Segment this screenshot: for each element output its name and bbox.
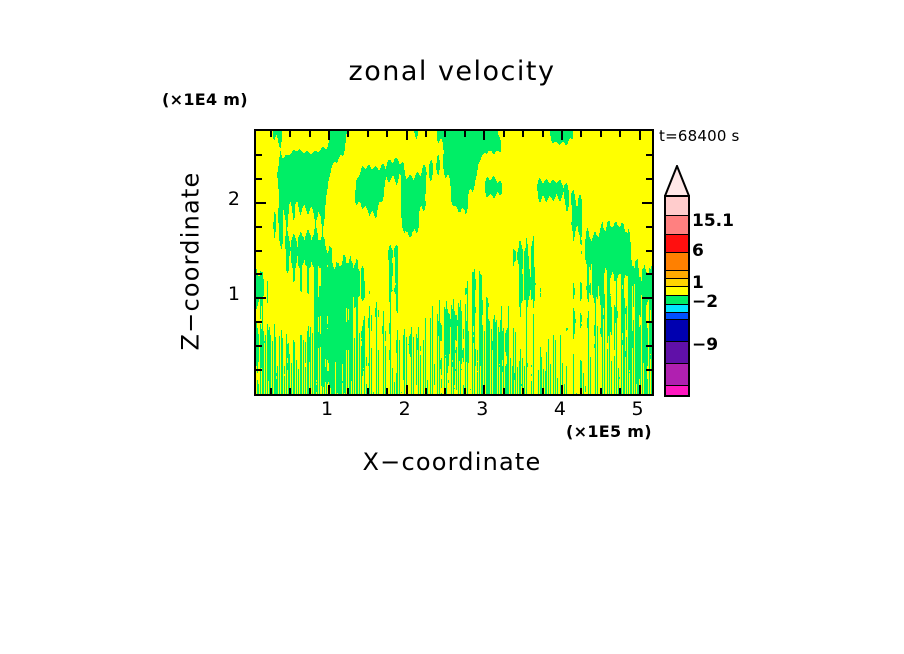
x-tick	[425, 388, 427, 394]
x-tick	[367, 388, 369, 394]
x-tick-top	[309, 131, 311, 137]
y-tick	[256, 345, 262, 347]
y-tick-right	[646, 345, 652, 347]
x-tick-top	[600, 131, 602, 137]
y-tick-right	[642, 297, 652, 299]
y-tick-label: 2	[214, 188, 240, 210]
x-tick-top	[270, 131, 272, 137]
colorbar-band	[666, 296, 688, 305]
x-tick-top	[464, 131, 466, 137]
x-tick	[522, 388, 524, 394]
timestamp-annotation: t=68400 s	[659, 127, 740, 145]
x-tick-label: 2	[385, 398, 425, 420]
colorbar-band	[666, 305, 688, 313]
y-tick	[256, 369, 262, 371]
x-tick	[406, 385, 408, 394]
colorbar-band	[666, 342, 688, 364]
colorbar	[664, 195, 690, 397]
x-tick	[542, 388, 544, 394]
colorbar-band	[666, 320, 688, 342]
colorbar-band	[666, 313, 688, 320]
y-tick-right	[646, 226, 652, 228]
y-tick	[256, 321, 262, 323]
y-axis-title: Z−coordinate	[176, 176, 204, 346]
x-tick-top	[386, 131, 388, 137]
x-tick-label: 5	[618, 398, 658, 420]
x-tick	[503, 388, 505, 394]
velocity-field-heatmap	[256, 131, 652, 394]
colorbar-band	[666, 235, 688, 253]
x-tick-top	[406, 131, 408, 140]
y-tick	[256, 154, 262, 156]
colorbar-band	[666, 279, 688, 287]
x-tick	[639, 385, 641, 394]
y-tick-right	[642, 202, 652, 204]
colorbar-band	[666, 386, 688, 397]
y-tick	[256, 202, 266, 204]
x-tick	[270, 388, 272, 394]
x-tick	[386, 388, 388, 394]
colorbar-label: 15.1	[692, 211, 734, 231]
x-tick-label: 3	[462, 398, 502, 420]
x-tick	[600, 388, 602, 394]
x-tick-top	[425, 131, 427, 137]
y-tick-right	[646, 273, 652, 275]
x-axis-units-label: (×1E5 m)	[566, 422, 652, 441]
x-tick-top	[483, 131, 485, 140]
x-axis-title: X−coordinate	[254, 448, 650, 476]
x-tick-label: 4	[540, 398, 580, 420]
colorbar-band	[666, 271, 688, 279]
x-tick	[483, 385, 485, 394]
colorbar-band	[666, 197, 688, 216]
x-tick	[347, 388, 349, 394]
x-tick	[561, 385, 563, 394]
x-tick	[309, 388, 311, 394]
colorbar-label: 6	[692, 241, 704, 261]
colorbar-label: −9	[692, 335, 718, 355]
y-tick	[256, 250, 262, 252]
x-tick-top	[561, 131, 563, 140]
colorbar-band	[666, 364, 688, 386]
x-tick-top	[444, 131, 446, 137]
page-title: zonal velocity	[254, 56, 650, 87]
x-tick-top	[639, 131, 641, 140]
x-tick	[464, 388, 466, 394]
figure-canvas: zonal velocity (×1E4 m) t=68400 s 12345 …	[0, 0, 904, 654]
colorbar-arrow-icon	[664, 165, 690, 197]
x-tick-top	[542, 131, 544, 137]
colorbar-band	[666, 216, 688, 235]
y-tick-right	[646, 178, 652, 180]
colorbar-label: −2	[692, 292, 718, 312]
x-tick	[580, 388, 582, 394]
contour-plot-panel	[254, 129, 654, 396]
x-tick-top	[367, 131, 369, 137]
y-tick-right	[646, 154, 652, 156]
y-tick-right	[646, 321, 652, 323]
y-axis-title-text: Z−coordinate	[176, 172, 204, 351]
y-tick-right	[646, 369, 652, 371]
x-tick-top	[580, 131, 582, 137]
x-tick-label: 1	[307, 398, 347, 420]
x-tick	[289, 388, 291, 394]
x-tick-top	[503, 131, 505, 137]
y-tick	[256, 297, 266, 299]
x-tick	[444, 388, 446, 394]
colorbar-band	[666, 253, 688, 271]
colorbar-band	[666, 287, 688, 296]
y-tick	[256, 273, 262, 275]
x-tick	[328, 385, 330, 394]
y-tick	[256, 226, 262, 228]
x-tick-top	[619, 131, 621, 137]
y-tick	[256, 178, 262, 180]
x-tick-top	[289, 131, 291, 137]
x-tick-top	[347, 131, 349, 137]
y-tick-label: 1	[214, 283, 240, 305]
x-tick	[619, 388, 621, 394]
x-tick-top	[522, 131, 524, 137]
y-tick-right	[646, 250, 652, 252]
z-axis-units-label: (×1E4 m)	[162, 90, 248, 109]
x-tick-top	[328, 131, 330, 140]
colorbar-label: 1	[692, 273, 704, 293]
